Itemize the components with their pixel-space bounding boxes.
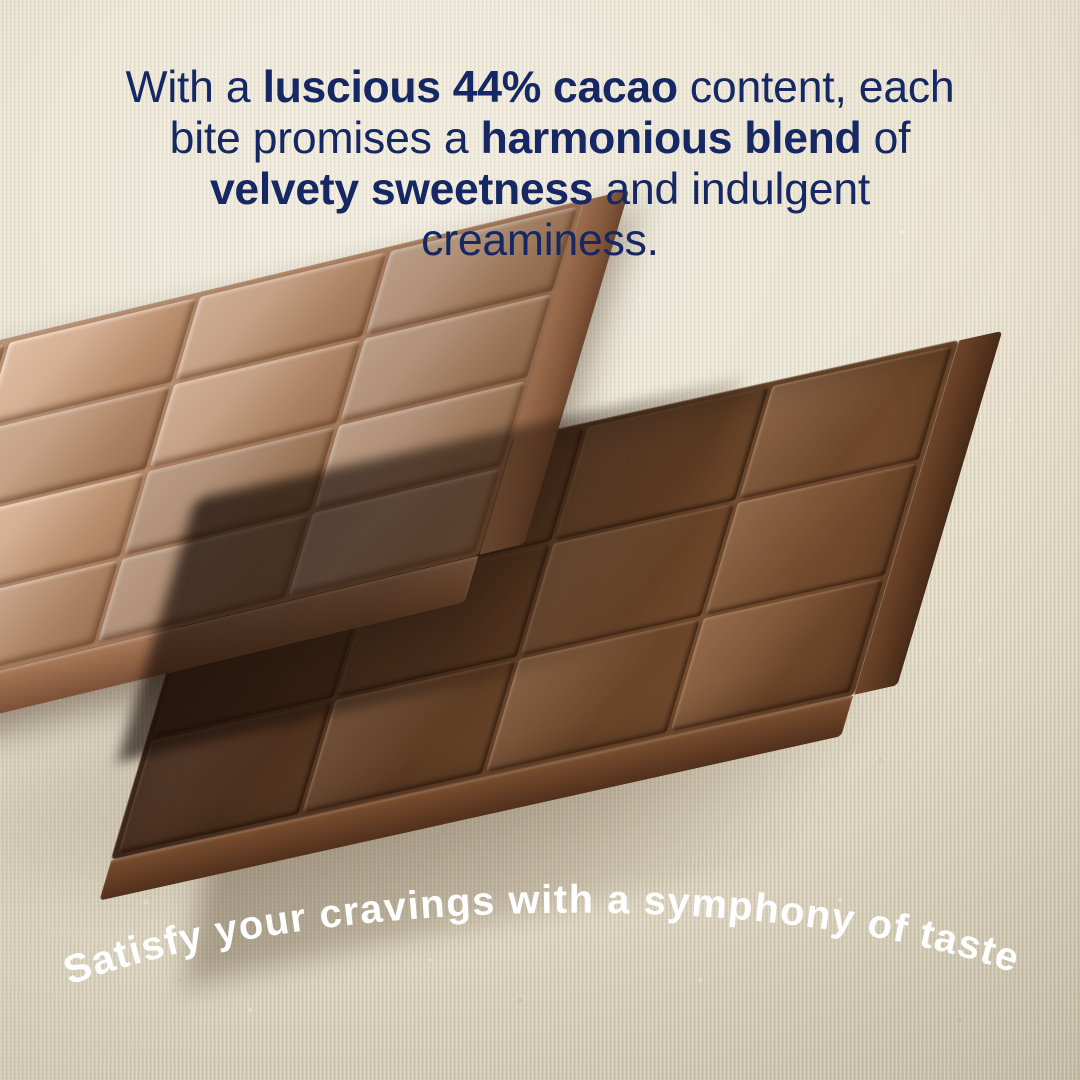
product-banner: With a luscious 44% cacao content, each … — [0, 0, 1080, 1080]
arc-tagline-text: Satisfy your cravings with a symphony of… — [58, 878, 1026, 994]
headline-part-3: of — [861, 114, 910, 163]
headline-bold-sweetness: velvety sweetness — [210, 165, 593, 214]
headline-copy: With a luscious 44% cacao content, each … — [96, 62, 984, 266]
headline-part-1: With a — [126, 63, 263, 112]
arc-tagline-container: Satisfy your cravings with a symphony of… — [0, 840, 1080, 1080]
headline-bold-cacao: luscious 44% cacao — [263, 63, 678, 112]
headline-bold-blend: harmonious blend — [481, 114, 862, 163]
